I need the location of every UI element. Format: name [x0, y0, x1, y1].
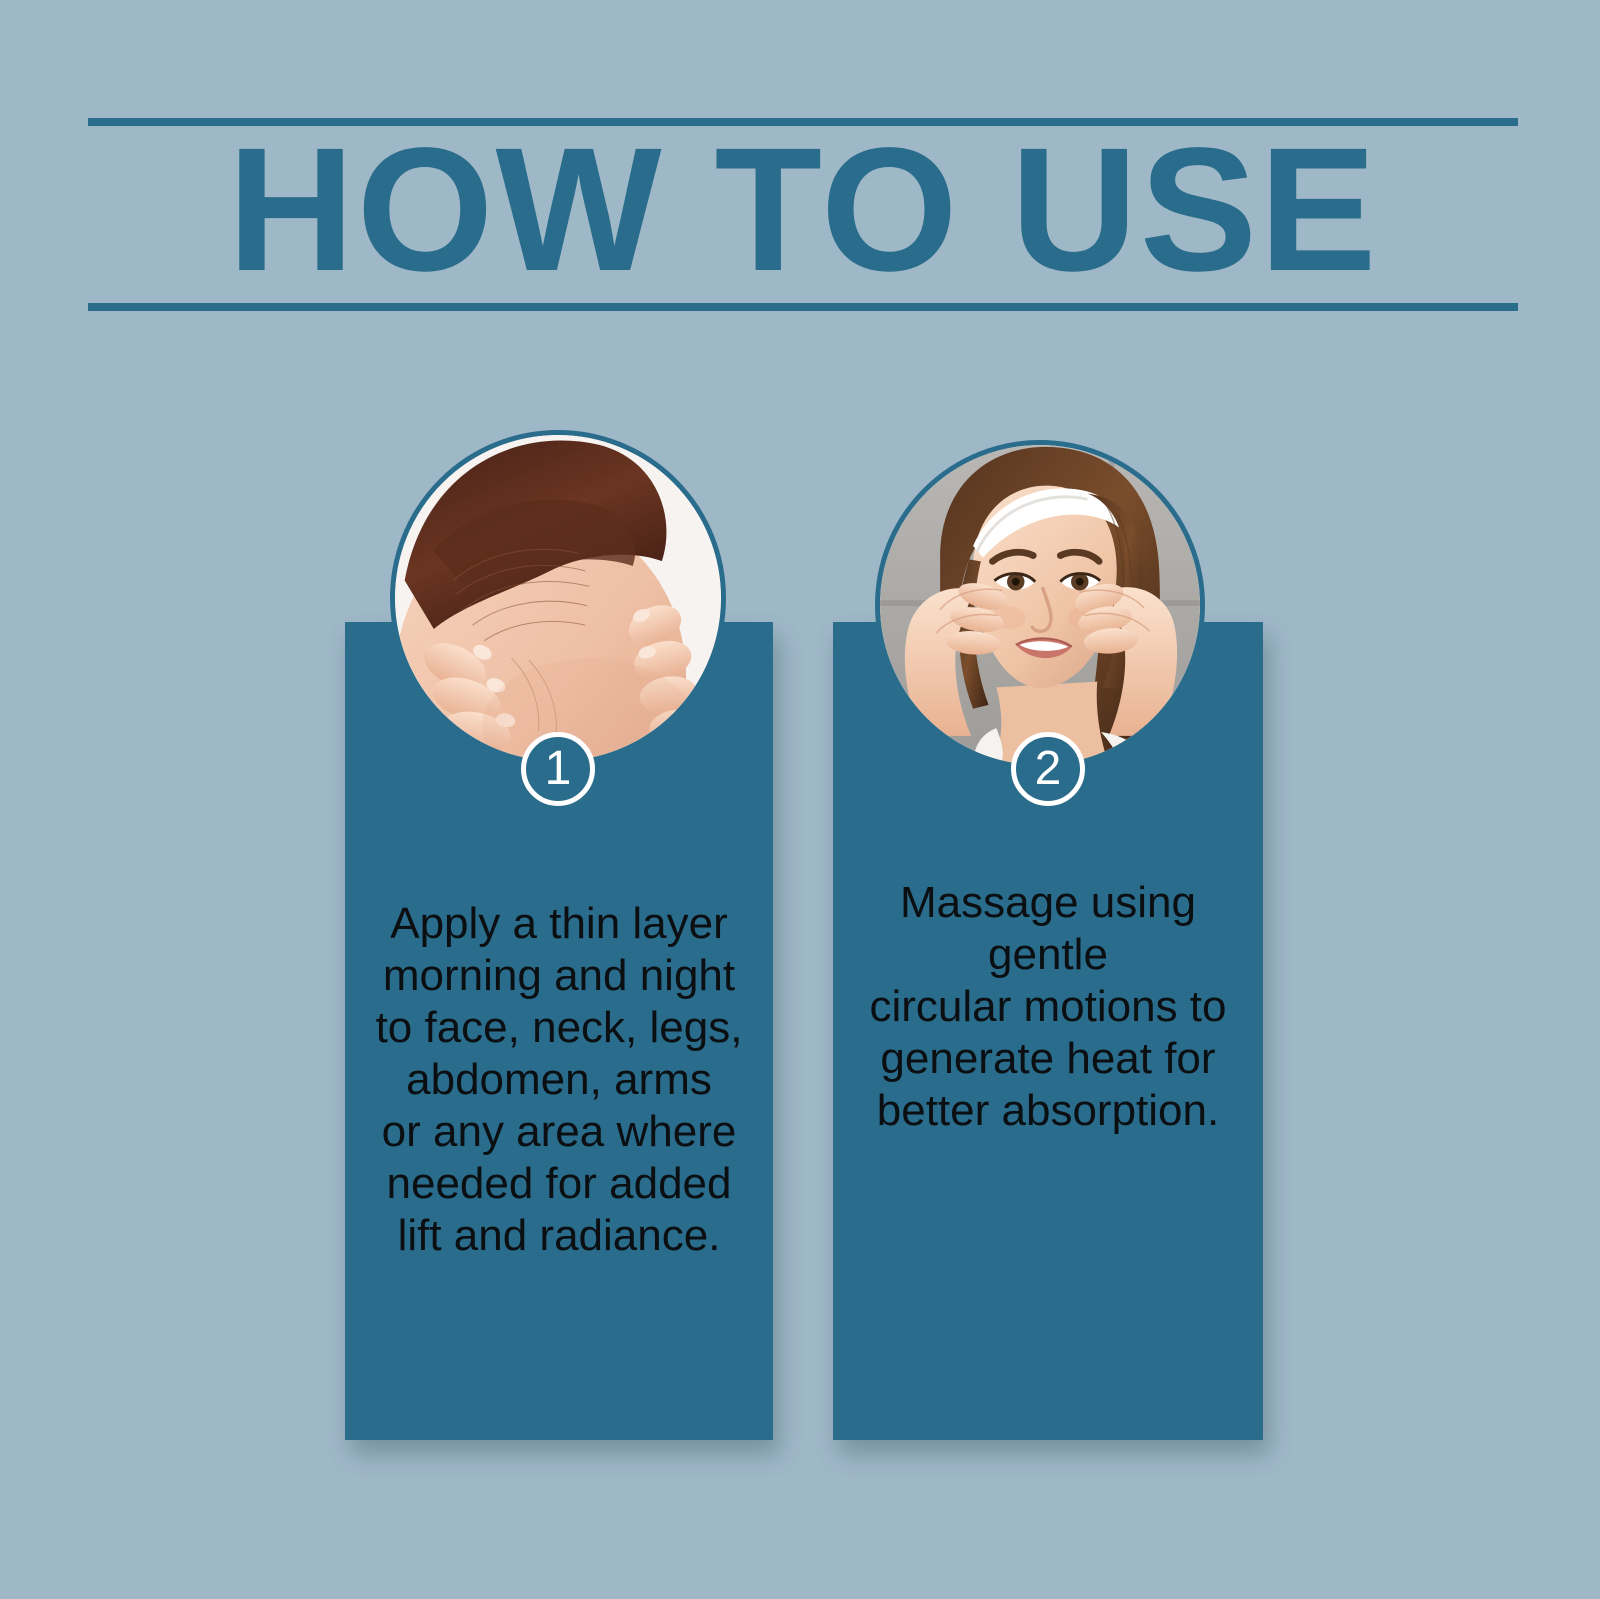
neck-massage-illustration — [395, 435, 721, 761]
step-description-2: Massage using gentle circular motions to… — [841, 877, 1255, 1137]
face-massage-illustration — [880, 445, 1200, 765]
step-1-photo — [390, 430, 726, 766]
step-card-2: 2 Massage using gentle circular motions … — [833, 622, 1263, 1440]
step-card-1: 1 Apply a thin layer morning and night t… — [345, 622, 773, 1440]
step-number-badge-1: 1 — [521, 732, 595, 806]
step-description-1: Apply a thin layer morning and night to … — [353, 898, 765, 1262]
step-2-photo — [875, 440, 1205, 770]
step-number-badge-2: 2 — [1011, 732, 1085, 806]
steps-container: 1 Apply a thin layer morning and night t… — [0, 0, 1600, 1599]
